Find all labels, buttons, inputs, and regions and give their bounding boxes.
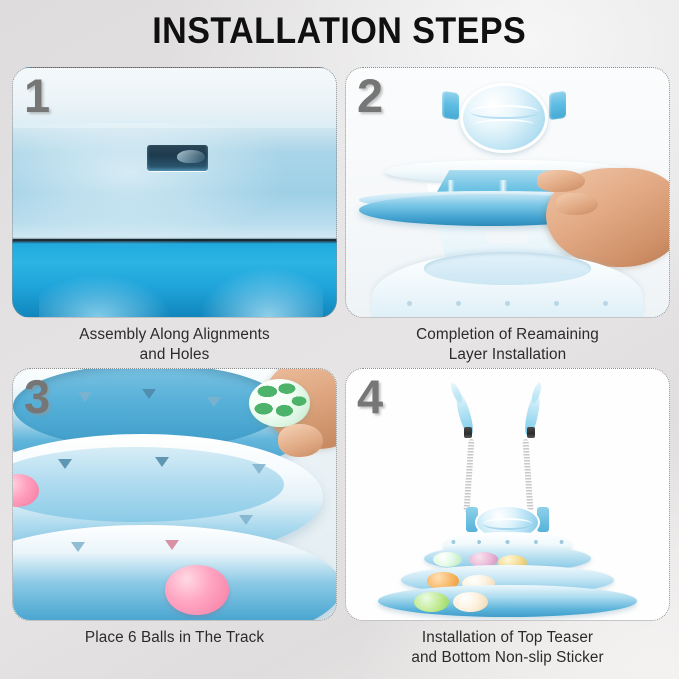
track-notch xyxy=(155,457,169,467)
step-4-caption: Installation of Top Teaser and Bottom No… xyxy=(345,628,670,668)
track-notch xyxy=(58,459,72,469)
steps-grid: 1 Assembly Along Alignments and Holes 2 xyxy=(12,62,667,672)
step-4-photo: 4 xyxy=(345,368,670,621)
panel-top-sheen xyxy=(13,68,336,128)
teaser-post-left xyxy=(442,91,459,120)
step-card-3: 3 Place 6 Balls in The Track xyxy=(12,368,337,668)
thumb xyxy=(278,424,323,457)
step-1-caption-line-2: and Holes xyxy=(12,345,337,365)
step-2-caption: Completion of Reamaining Layer Installat… xyxy=(345,325,670,365)
teaser-ball xyxy=(460,83,548,153)
track-notch xyxy=(207,397,221,407)
step-2-caption-line-1: Completion of Reamaining xyxy=(345,325,670,345)
track-notch xyxy=(71,542,85,552)
finger-lower xyxy=(556,193,598,215)
panel-gloss-highlight xyxy=(12,123,337,248)
ball-green-jingle xyxy=(249,379,310,427)
teaser-ring-assembly xyxy=(440,83,569,163)
step-card-1: 1 Assembly Along Alignments and Holes xyxy=(12,67,337,367)
alignment-slot xyxy=(147,145,208,171)
base-mounting-holes xyxy=(385,295,630,312)
teaser-post-right xyxy=(549,91,566,120)
track-notch xyxy=(142,389,156,399)
panel-reflection-left xyxy=(39,242,188,317)
track-notch xyxy=(165,540,179,550)
step-4-caption-line-2: and Bottom Non-slip Sticker xyxy=(345,648,670,668)
spring-right xyxy=(523,439,534,512)
step-4-caption-line-1: Installation of Top Teaser xyxy=(345,628,670,648)
step-1-caption: Assembly Along Alignments and Holes xyxy=(12,325,337,365)
step-1-caption-line-1: Assembly Along Alignments xyxy=(12,325,337,345)
step-3-photo: 3 xyxy=(12,368,337,621)
infographic-page: INSTALLATION STEPS 1 Assembly Along Alig… xyxy=(0,0,679,679)
step-4-number: 4 xyxy=(357,373,383,420)
feather-clip-left xyxy=(464,427,472,438)
spring-left xyxy=(463,439,474,512)
step-3-caption-line-1: Place 6 Balls in The Track xyxy=(12,628,337,648)
step-3-caption: Place 6 Balls in The Track xyxy=(12,628,337,648)
step-1-photo: 1 xyxy=(12,67,337,318)
track-notch xyxy=(239,515,253,525)
page-title: INSTALLATION STEPS xyxy=(153,10,527,52)
base-inner-ring xyxy=(424,252,592,284)
step-2-photo: 2 xyxy=(345,67,670,318)
track-notch xyxy=(252,464,266,474)
panel-reflection-right xyxy=(187,232,323,317)
ball-pink-bottom xyxy=(165,565,230,615)
page-title-bar: INSTALLATION STEPS xyxy=(0,0,679,62)
step-2-caption-line-2: Layer Installation xyxy=(345,345,670,365)
feather-clip-right xyxy=(527,427,535,438)
track-notch xyxy=(78,392,92,402)
step-card-2: 2 Completion of Rea xyxy=(345,67,670,367)
step-2-number: 2 xyxy=(357,72,383,119)
step-card-4: 4 xyxy=(345,368,670,668)
